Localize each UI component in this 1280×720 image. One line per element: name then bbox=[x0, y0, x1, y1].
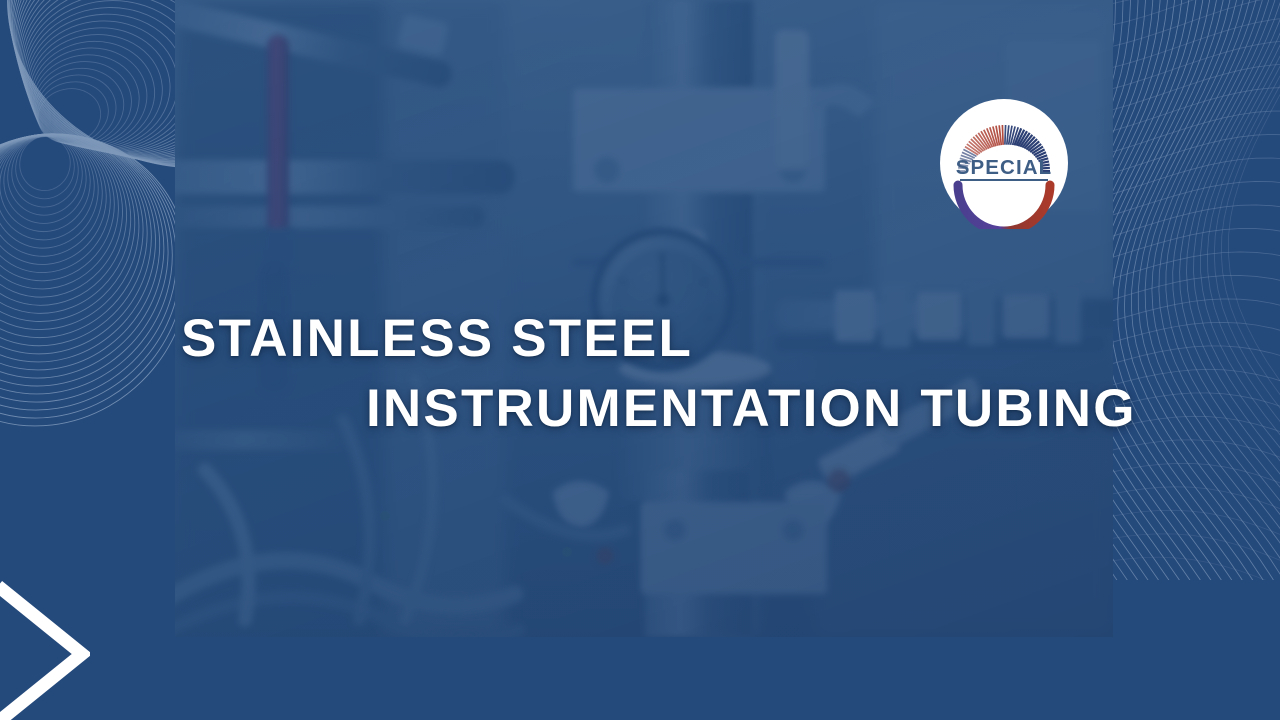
slide-canvas: STAINLESS STEEL INSTRUMENTATION TUBING S… bbox=[0, 0, 1280, 720]
page-title-line-1: STAINLESS STEEL bbox=[181, 308, 693, 369]
logo-wordmark: SPECIAL bbox=[956, 156, 1053, 179]
headline-block: STAINLESS STEEL INSTRUMENTATION TUBING bbox=[0, 0, 1280, 720]
logo-wordmark-underline bbox=[960, 179, 1048, 181]
special-logo[interactable]: SPECIAL bbox=[938, 97, 1070, 229]
chevron-right-icon bbox=[0, 578, 90, 720]
page-title-line-2: INSTRUMENTATION TUBING bbox=[366, 378, 1137, 439]
